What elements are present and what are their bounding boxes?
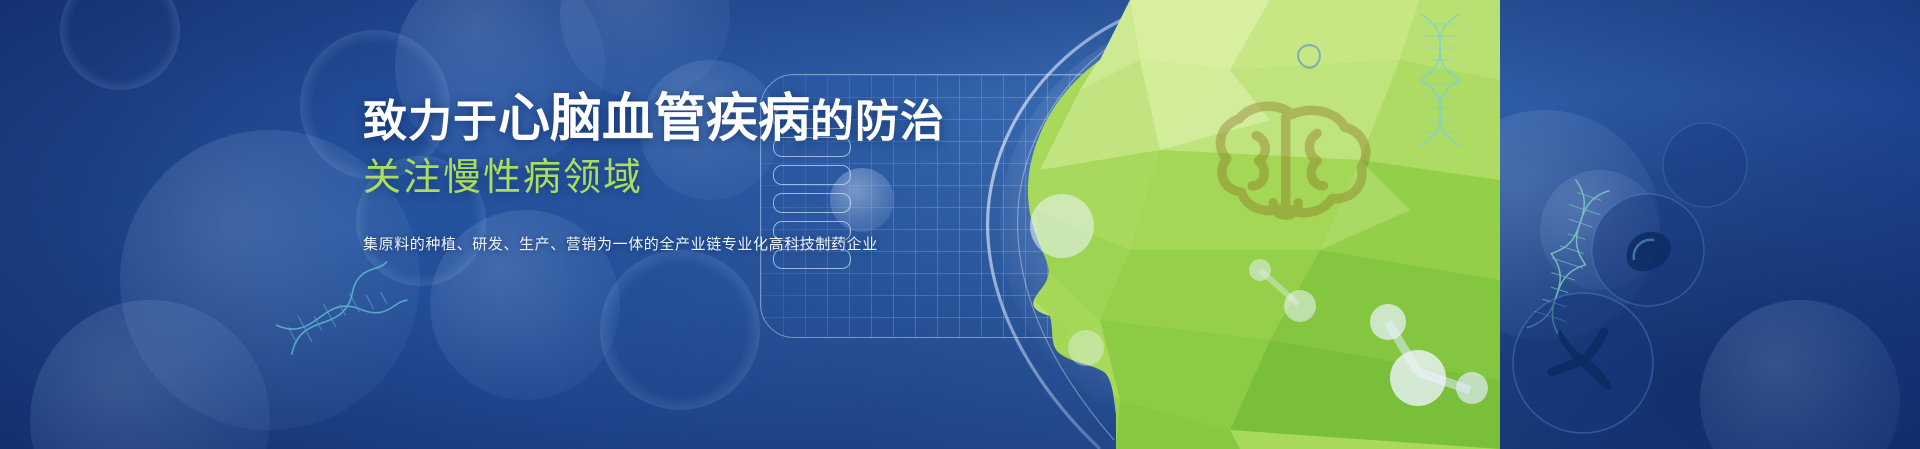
banner-copy: 致力于心脑血管疾病的防治 关注慢性病领域 集原料的种植、研发、生产、营销为一体的… [363, 92, 1003, 256]
bokeh-circle [1700, 300, 1900, 449]
headline-lead: 致力于 [363, 97, 498, 146]
dna-helix-icon [264, 243, 421, 383]
bokeh-circle [30, 300, 270, 449]
bokeh-circle [60, 0, 180, 90]
headline: 致力于心脑血管疾病的防治 [363, 92, 1003, 146]
hero-banner: 致力于心脑血管疾病的防治 关注慢性病领域 集原料的种植、研发、生产、营销为一体的… [0, 0, 1920, 449]
cell-icon [1660, 120, 1750, 210]
headline-accent: 心脑血管疾病 [498, 90, 810, 148]
subheadline: 关注慢性病领域 [363, 158, 1003, 200]
bokeh-circle [600, 250, 760, 410]
dna-helix-icon [1506, 174, 1635, 360]
tagline: 集原料的种植、研发、生产、营销为一体的全产业链专业化高科技制药企业 [363, 234, 1003, 257]
bokeh-circle [560, 0, 730, 100]
bokeh-circle [1540, 170, 1660, 290]
headline-tail: 的防治 [810, 97, 945, 146]
cell-icon [1508, 288, 1658, 438]
cell-icon [1588, 190, 1708, 310]
